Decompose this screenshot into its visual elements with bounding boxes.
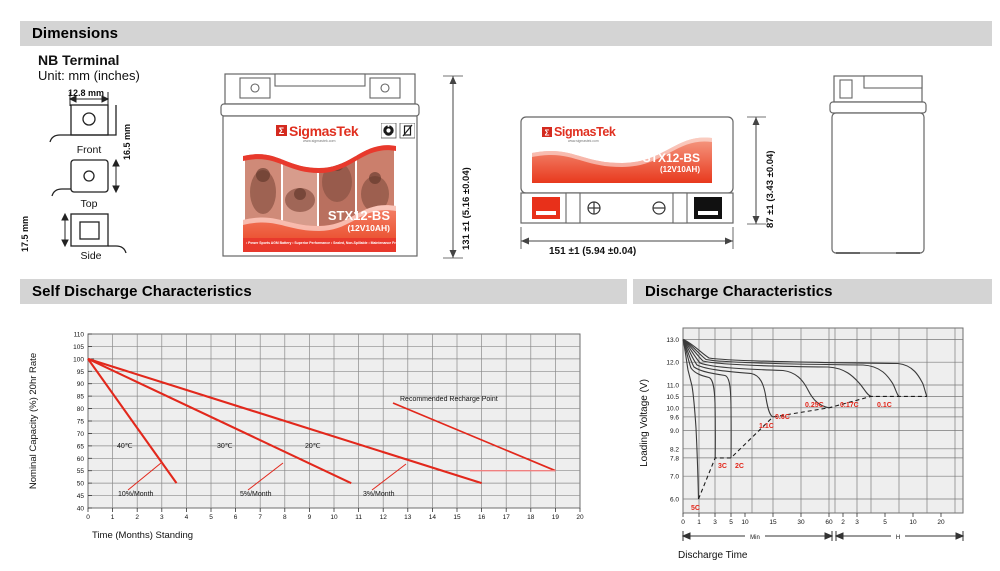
svg-text:Σ: Σ bbox=[279, 126, 285, 136]
svg-text:8: 8 bbox=[283, 514, 287, 521]
svg-text:60: 60 bbox=[77, 456, 85, 463]
self-discharge-chart: 110 105 100 95 90 85 80 75 70 65 60 55 5… bbox=[20, 318, 620, 568]
brand-name: SigmasTek bbox=[289, 123, 358, 139]
svg-text:10: 10 bbox=[330, 514, 338, 521]
battery-end-view-drawing bbox=[820, 70, 940, 265]
label-0-25c: 0.25C bbox=[805, 402, 824, 409]
svg-text:7.8: 7.8 bbox=[670, 455, 679, 462]
recycle-icon bbox=[381, 123, 396, 138]
svg-text:0: 0 bbox=[86, 514, 90, 521]
terminal-width-label: 12.8 mm bbox=[68, 88, 104, 98]
svg-text:18: 18 bbox=[527, 514, 535, 521]
svg-text:9.6: 9.6 bbox=[670, 414, 679, 421]
brand-name-side: SigmasTek bbox=[554, 125, 615, 139]
svg-text:12.0: 12.0 bbox=[666, 360, 679, 367]
anno-30c: 30℃ bbox=[217, 443, 233, 450]
svg-text:10.0: 10.0 bbox=[666, 405, 679, 412]
svg-text:85: 85 bbox=[77, 394, 85, 401]
label-1-1c: 1.1C bbox=[759, 423, 774, 430]
svg-text:3: 3 bbox=[713, 519, 717, 526]
svg-text:40: 40 bbox=[77, 506, 85, 513]
terminal-height-label: 16.5 mm bbox=[122, 124, 132, 160]
svg-text:80: 80 bbox=[77, 406, 85, 413]
battery-label-side: Σ SigmasTek www.sigmastek.com STX12-BS (… bbox=[532, 123, 712, 183]
svg-text:3: 3 bbox=[855, 519, 859, 526]
svg-text:70: 70 bbox=[77, 431, 85, 438]
svg-text:30: 30 bbox=[797, 519, 805, 526]
section-title-dimensions: Dimensions bbox=[32, 25, 118, 42]
anno-3pct: 3%/Month bbox=[363, 491, 395, 498]
discharge-chart: 13.0 12.0 11.0 10.5 10.0 9.6 9.0 8.2 7.8… bbox=[633, 318, 993, 568]
discharge-ylabel: Loading Voltage (V) bbox=[639, 379, 650, 467]
svg-text:7.0: 7.0 bbox=[670, 474, 679, 481]
label-0-1c: 0.1C bbox=[877, 402, 892, 409]
anno-5pct: 5%/Month bbox=[240, 491, 272, 498]
range-label-hours: H bbox=[896, 535, 900, 541]
svg-text:Σ: Σ bbox=[545, 129, 550, 138]
svg-text:16: 16 bbox=[478, 514, 486, 521]
svg-text:11: 11 bbox=[355, 514, 362, 521]
label-5c: 5C bbox=[691, 505, 700, 512]
terminal-depth-label: 17.5 mm bbox=[20, 216, 30, 252]
nb-terminal-title: NB Terminal bbox=[38, 52, 218, 68]
section-header-discharge: Discharge Characteristics bbox=[633, 279, 992, 304]
svg-text:15: 15 bbox=[453, 514, 461, 521]
svg-text:6.0: 6.0 bbox=[670, 497, 679, 504]
svg-text:100: 100 bbox=[73, 356, 84, 363]
svg-text:110: 110 bbox=[74, 332, 85, 339]
svg-text:90: 90 bbox=[77, 381, 85, 388]
svg-text:19: 19 bbox=[552, 514, 560, 521]
battery-features: • Power Sports AGM Battery • Superior Pe… bbox=[246, 241, 396, 245]
svg-text:45: 45 bbox=[77, 493, 85, 500]
anno-20c: 20℃ bbox=[305, 443, 321, 450]
svg-text:11.0: 11.0 bbox=[667, 383, 680, 390]
svg-text:20: 20 bbox=[576, 514, 584, 521]
section-title-self-discharge: Self Discharge Characteristics bbox=[32, 283, 252, 300]
svg-text:10: 10 bbox=[909, 519, 917, 526]
terminal-views-drawing: Front Top Side bbox=[38, 86, 218, 266]
battery-model: STX12-BS bbox=[328, 208, 390, 223]
svg-text:50: 50 bbox=[77, 481, 85, 488]
svg-text:Front: Front bbox=[77, 144, 102, 156]
anno-recharge: Recommended Recharge Point bbox=[400, 396, 498, 403]
svg-text:13: 13 bbox=[404, 514, 412, 521]
svg-text:15: 15 bbox=[769, 519, 777, 526]
svg-text:4: 4 bbox=[185, 514, 189, 521]
svg-text:7: 7 bbox=[258, 514, 262, 521]
svg-text:0: 0 bbox=[681, 519, 685, 526]
svg-text:6: 6 bbox=[234, 514, 238, 521]
svg-text:5: 5 bbox=[209, 514, 213, 521]
section-header-dimensions: Dimensions bbox=[20, 21, 992, 46]
battery-side-height-dimension: 87 ±1 (3.43 ±0.04) bbox=[765, 150, 776, 228]
battery-capacity: (12V10AH) bbox=[347, 223, 390, 233]
svg-text:17: 17 bbox=[503, 514, 511, 521]
svg-text:8.2: 8.2 bbox=[670, 446, 679, 453]
label-icons-group bbox=[381, 123, 415, 139]
label-0-17c: 0.17C bbox=[840, 402, 859, 409]
svg-text:60: 60 bbox=[825, 519, 833, 526]
svg-text:1: 1 bbox=[697, 519, 701, 526]
svg-text:12: 12 bbox=[380, 514, 388, 521]
svg-text:20: 20 bbox=[937, 519, 945, 526]
battery-length-dimension: 151 ±1 (5.94 ±0.04) bbox=[549, 246, 636, 257]
label-3c: 3C bbox=[718, 463, 727, 470]
svg-text:105: 105 bbox=[73, 344, 84, 351]
label-0-6c: 0.6C bbox=[775, 414, 790, 421]
svg-text:10: 10 bbox=[741, 519, 749, 526]
self-discharge-xlabel: Time (Months) Standing bbox=[92, 530, 193, 541]
range-label-min: Min bbox=[750, 535, 760, 541]
battery-capacity-side: (12V10AH) bbox=[660, 165, 700, 174]
svg-text:5: 5 bbox=[729, 519, 733, 526]
svg-text:13.0: 13.0 bbox=[666, 337, 679, 344]
svg-text:2: 2 bbox=[135, 514, 139, 521]
svg-text:5: 5 bbox=[883, 519, 887, 526]
discharge-xlabel: Discharge Time bbox=[678, 550, 748, 561]
svg-text:10.5: 10.5 bbox=[666, 394, 679, 401]
unit-note: Unit: mm (inches) bbox=[38, 68, 218, 84]
brand-website-side: www.sigmastek.com bbox=[568, 139, 599, 143]
section-title-discharge: Discharge Characteristics bbox=[645, 283, 833, 300]
anno-10pct: 10%/Month bbox=[118, 491, 154, 498]
label-2c: 2C bbox=[735, 463, 744, 470]
svg-text:2: 2 bbox=[841, 519, 845, 526]
svg-text:14: 14 bbox=[429, 514, 437, 521]
nb-terminal-block: NB Terminal Unit: mm (inches) bbox=[38, 52, 218, 84]
discharge-svg: 13.0 12.0 11.0 10.5 10.0 9.6 9.0 8.2 7.8… bbox=[633, 318, 993, 568]
battery-label-front: Σ SigmasTek www.sigmastek.com STX12-BS (… bbox=[243, 120, 396, 252]
svg-text:Top: Top bbox=[81, 198, 98, 210]
section-header-self-discharge: Self Discharge Characteristics bbox=[20, 279, 627, 304]
svg-text:9: 9 bbox=[308, 514, 312, 521]
svg-text:9.0: 9.0 bbox=[670, 428, 679, 435]
svg-text:95: 95 bbox=[77, 369, 85, 376]
self-discharge-svg: 110 105 100 95 90 85 80 75 70 65 60 55 5… bbox=[20, 318, 620, 568]
self-discharge-ylabel: Nominal Capacity (%) 20hr Rate bbox=[28, 353, 39, 489]
battery-model-side: STX12-BS bbox=[643, 151, 700, 165]
no-bin-icon bbox=[400, 123, 415, 138]
height-dimension-line bbox=[440, 70, 466, 265]
svg-text:3: 3 bbox=[160, 514, 164, 521]
svg-text:55: 55 bbox=[77, 468, 85, 475]
svg-text:65: 65 bbox=[77, 443, 85, 450]
svg-text:1: 1 bbox=[111, 514, 115, 521]
brand-website: www.sigmastek.com bbox=[303, 139, 336, 143]
anno-40c: 40℃ bbox=[117, 443, 133, 450]
svg-text:Side: Side bbox=[80, 250, 101, 262]
svg-text:75: 75 bbox=[77, 419, 85, 426]
